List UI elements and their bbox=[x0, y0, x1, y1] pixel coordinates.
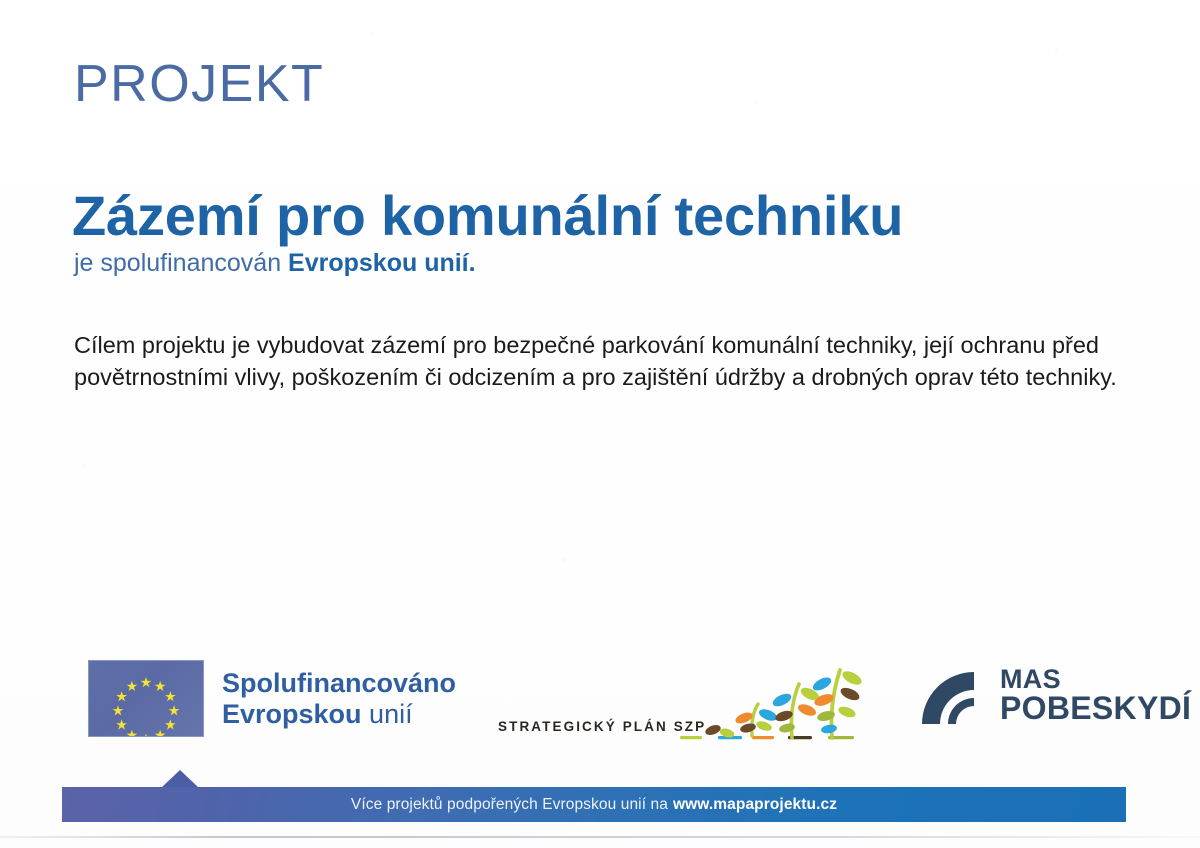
footer-notch-arrow bbox=[162, 770, 198, 787]
footer-url[interactable]: www.mapaprojektu.cz bbox=[673, 796, 837, 814]
cofinance-emphasis: Evropskou unií. bbox=[288, 249, 476, 277]
mas-logo-text: MAS POBESKYDÍ bbox=[1000, 666, 1191, 724]
eu-logo-line2-bold: Evropskou bbox=[222, 699, 362, 729]
footer-text: Více projektů podpořených Evropskou unií… bbox=[62, 787, 1126, 822]
footer-bar: Více projektů podpořených Evropskou unií… bbox=[62, 787, 1126, 822]
eu-logo: Spolufinancováno Evropskou unií bbox=[88, 660, 456, 737]
mas-logo: MAS POBESKYDÍ bbox=[918, 664, 1191, 726]
growing-plants-icon bbox=[680, 660, 868, 746]
page-kicker: PROJEKT bbox=[74, 58, 324, 110]
eu-logo-line2: Evropskou unií bbox=[222, 699, 456, 730]
poster-sheet: PROJEKT Zázemí pro komunální techniku je… bbox=[0, 0, 1200, 848]
mas-logo-line1: MAS bbox=[1000, 666, 1191, 692]
mas-logo-line2: POBESKYDÍ bbox=[1000, 693, 1191, 724]
footer-label: Více projektů podpořených Evropskou unií… bbox=[351, 796, 668, 814]
eu-logo-line2-thin: unií bbox=[362, 699, 413, 729]
cofinance-prefix: je spolufinancován bbox=[74, 249, 288, 277]
eu-logo-text: Spolufinancováno Evropskou unií bbox=[222, 668, 456, 730]
page-bottom-edge bbox=[0, 836, 1200, 838]
eu-flag-icon bbox=[88, 660, 204, 737]
page-title: Zázemí pro komunální techniku bbox=[72, 186, 903, 246]
szp-logo: STRATEGICKÝ PLÁN SZP bbox=[498, 656, 868, 746]
logo-strip: Spolufinancováno Evropskou unií STRATEGI… bbox=[0, 648, 1200, 758]
mas-arc-icon bbox=[918, 664, 990, 726]
szp-caption: STRATEGICKÝ PLÁN SZP bbox=[498, 719, 706, 734]
eu-logo-line1: Spolufinancováno bbox=[222, 668, 456, 699]
cofinance-line: je spolufinancován Evropskou unií. bbox=[74, 248, 476, 278]
project-description: Cílem projektu je vybudovat zázemí pro b… bbox=[74, 329, 1120, 393]
